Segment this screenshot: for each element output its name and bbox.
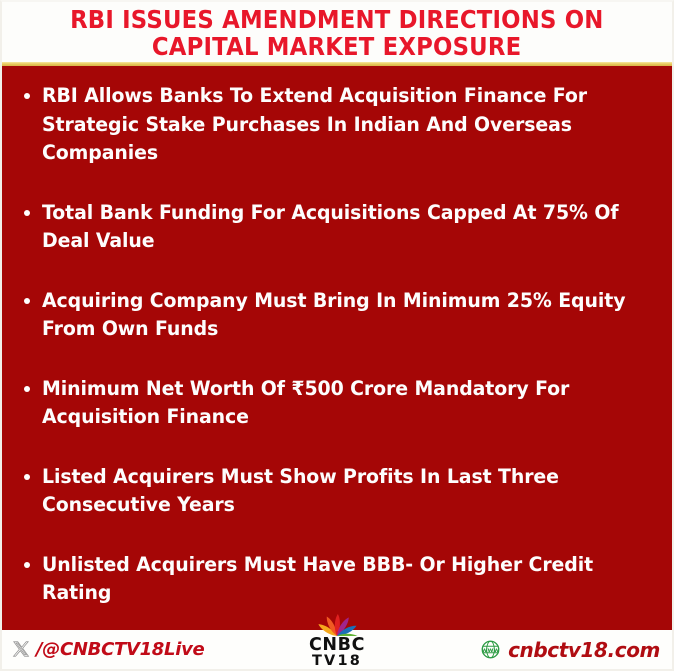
bullet-dot-icon [24,386,30,392]
list-item: Acquiring Company Must Bring In Minimum … [12,287,654,344]
bullet-dot-icon [24,562,30,568]
list-item-text: Listed Acquirers Must Show Profits In La… [42,463,633,520]
social-handle-group: /@CNBCTV18Live [12,639,204,660]
nbc-peacock-icon [312,613,362,636]
website-group: www cnbctv18.com [480,638,660,662]
list-item: Listed Acquirers Must Show Profits In La… [12,463,654,520]
social-handle-text[interactable]: /@CNBCTV18Live [36,639,204,660]
list-item: Minimum Net Worth Of ₹500 Crore Mandator… [12,375,654,432]
list-item-text: Unlisted Acquirers Must Have BBB- Or Hig… [42,551,633,608]
list-item: Total Bank Funding For Acquisitions Capp… [12,199,654,256]
website-text[interactable]: cnbctv18.com [508,638,660,662]
list-item: RBI Allows Banks To Extend Acquisition F… [12,82,654,168]
list-item-text: Acquiring Company Must Bring In Minimum … [42,287,633,344]
list-item: Unlisted Acquirers Must Have BBB- Or Hig… [12,551,654,608]
card-footer: /@CNBCTV18Live www cnbctv18.com [0,630,674,671]
card-header: RBI ISSUES AMENDMENT DIRECTIONS ON CAPIT… [0,0,674,62]
bullet-dot-icon [24,298,30,304]
bullet-dot-icon [24,474,30,480]
bullet-dot-icon [24,210,30,216]
cnbc-wordmark: CNBC [294,637,380,654]
www-globe-icon: www [480,639,501,660]
bullet-dot-icon [24,93,30,99]
list-item-text: Minimum Net Worth Of ₹500 Crore Mandator… [42,375,633,432]
headline-line-1: RBI ISSUES AMENDMENT DIRECTIONS ON [70,6,603,33]
news-card: RBI ISSUES AMENDMENT DIRECTIONS ON CAPIT… [0,0,674,671]
list-item-text: Total Bank Funding For Acquisitions Capp… [42,199,633,256]
cnbc-tv18-logo: CNBC TV18 [294,613,380,669]
svg-text:www: www [482,646,500,654]
list-item-text: RBI Allows Banks To Extend Acquisition F… [42,82,633,168]
card-body: RBI Allows Banks To Extend Acquisition F… [0,66,674,630]
x-twitter-icon [12,640,31,659]
tv18-wordmark: TV18 [294,654,380,669]
bullet-list: RBI Allows Banks To Extend Acquisition F… [12,82,654,608]
headline-line-2: CAPITAL MARKET EXPOSURE [152,33,521,60]
